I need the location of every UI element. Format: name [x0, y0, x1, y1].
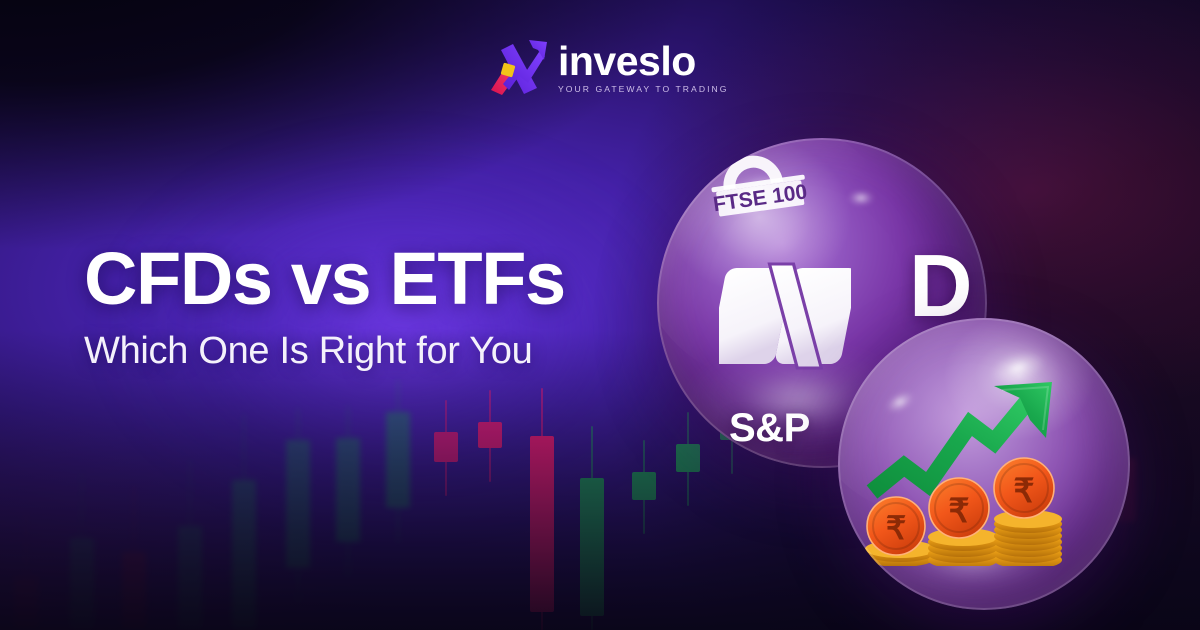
- sp-500-logo-icon: S&P: [729, 406, 810, 451]
- svg-text:₹: ₹: [886, 510, 906, 546]
- brand-logo-text: inveslo YOUR GATEWAY TO TRADING: [558, 40, 729, 94]
- page-title: CFDs vs ETFs: [84, 243, 704, 316]
- svg-text:₹: ₹: [1014, 472, 1035, 509]
- coin-stack-2: ₹: [928, 478, 998, 566]
- inveslo-arrow-x-logo-icon: [489, 38, 549, 96]
- nasdaq-n-logo-icon: [719, 246, 851, 376]
- promo-banner: FTSE 100 D: [0, 0, 1200, 630]
- page-subtitle: Which One Is Right for You: [84, 330, 704, 373]
- brand-tagline: YOUR GATEWAY TO TRADING: [558, 84, 729, 94]
- brand-logo[interactable]: inveslo YOUR GATEWAY TO TRADING: [489, 33, 714, 101]
- brand-name: inveslo: [558, 42, 729, 81]
- coin-stack-3: ₹: [994, 458, 1062, 566]
- coin-stack-1: ₹: [865, 497, 935, 566]
- ftse-100-logo-icon: FTSE 100: [705, 144, 825, 220]
- svg-text:₹: ₹: [949, 492, 970, 529]
- dow-jones-d-logo-icon: D: [909, 242, 971, 330]
- rupee-coin-stacks: ₹ ₹: [860, 446, 1065, 566]
- growth-bubble: ₹ ₹: [838, 318, 1130, 610]
- bubble-specular-highlight-small: [848, 191, 874, 205]
- headline-block: CFDs vs ETFs Which One Is Right for You: [84, 243, 704, 373]
